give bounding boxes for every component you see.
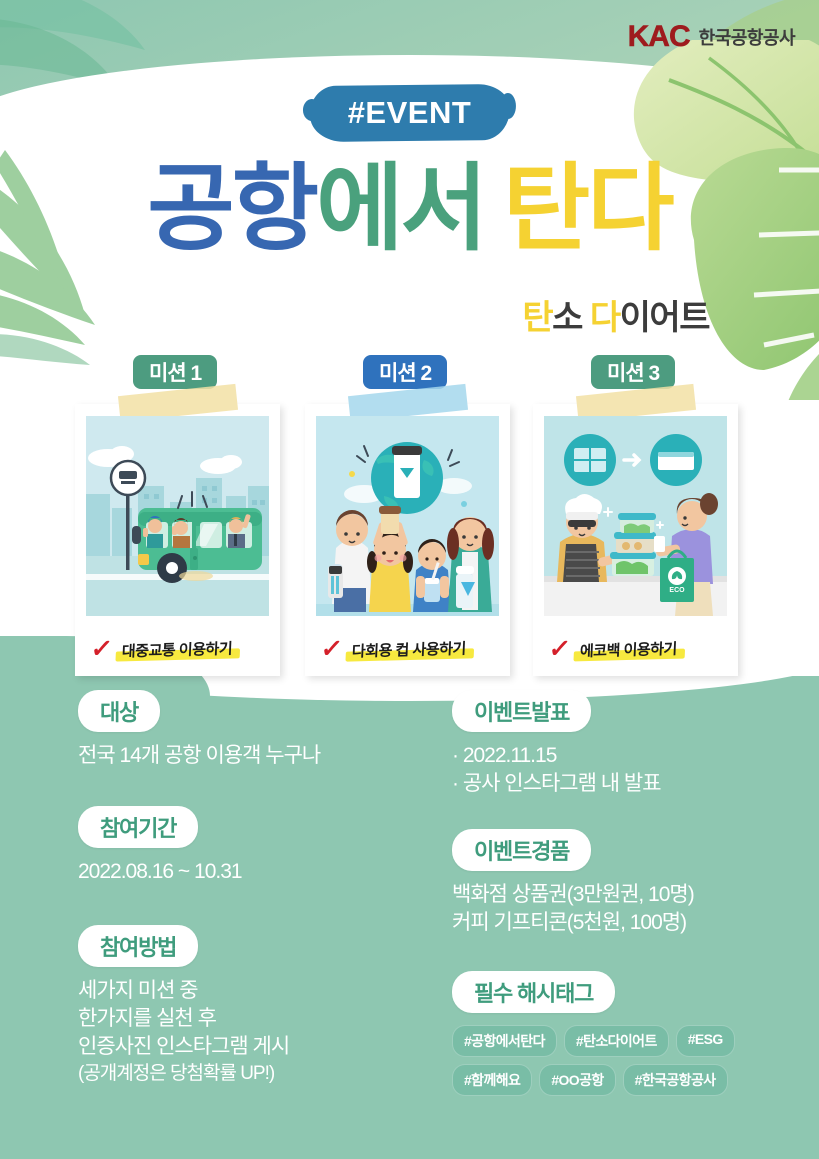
subtitle-part-iet: 이어트	[620, 299, 709, 337]
howto-line-3: 인증사진 인스타그램 게시	[78, 1033, 418, 1061]
mission-3-illustration: ECO	[544, 416, 727, 616]
info-block-howto: 참여방법 세가지 미션 중 한가지를 실천 후 인증사진 인스타그램 게시 (공…	[78, 925, 418, 1085]
mission-1-illustration	[86, 416, 269, 616]
mission-badge-3-label: 미션 3	[607, 357, 659, 387]
info-section: 대상 전국 14개 공항 이용객 누구나 참여기간 2022.08.16 ~ 1…	[0, 690, 819, 1159]
mission-cards: ✓ 대중교통 이용하기	[0, 404, 819, 676]
info-block-hashtags: 필수 해시태그 #공항에서탄다 #탄소다이어트 #ESG #함께해요 #OO공항…	[452, 971, 802, 1096]
event-badge: #EVENT	[310, 85, 510, 141]
info-text-howto: 세가지 미션 중 한가지를 실천 후 인증사진 인스타그램 게시 (공개계정은 …	[78, 977, 418, 1085]
svg-text:ECO: ECO	[669, 587, 685, 594]
hashtag-item[interactable]: #탄소다이어트	[564, 1025, 669, 1057]
info-label-announcement: 이벤트발표	[452, 690, 591, 732]
mission-2-caption: ✓ 다회용 컵 사용하기	[305, 637, 510, 662]
check-icon: ✓	[319, 637, 343, 662]
kac-logo-name: 한국공항공사	[699, 24, 795, 50]
info-label-howto: 참여방법	[78, 925, 198, 967]
check-icon: ✓	[547, 637, 571, 662]
mission-badges: 미션 1 미션 2 미션 3	[0, 355, 819, 391]
mission-card-2[interactable]: ✓ 다회용 컵 사용하기	[305, 404, 510, 676]
mission-badge-1: 미션 1	[133, 355, 217, 389]
info-block-prizes: 이벤트경품 백화점 상품권(3만원권, 10명) 커피 기프티콘(5천원, 10…	[452, 829, 802, 936]
hashtag-list: #공항에서탄다 #탄소다이어트 #ESG #함께해요 #OO공항 #한국공항공사	[452, 1025, 782, 1096]
hashtag-item[interactable]: #한국공항공사	[623, 1064, 728, 1096]
mission-3-caption: ✓ 에코백 이용하기	[533, 637, 738, 662]
info-text-prizes: 백화점 상품권(3만원권, 10명) 커피 기프티콘(5천원, 100명)	[452, 881, 802, 936]
info-block-target: 대상 전국 14개 공항 이용객 누구나	[78, 690, 418, 770]
event-badge-label: #EVENT	[348, 95, 472, 131]
mission-badge-3: 미션 3	[591, 355, 675, 389]
title-part-ride: 탄다	[503, 156, 672, 262]
announcement-line-1: · 2022.11.15	[452, 742, 802, 770]
mission-badge-1-label: 미션 1	[149, 357, 201, 387]
prize-line-2: 커피 기프티콘(5천원, 100명)	[452, 909, 802, 937]
info-text-target: 전국 14개 공항 이용객 누구나	[78, 742, 418, 770]
kac-logo-mark: KAC	[628, 20, 690, 54]
page-title: 공항에서탄다	[0, 160, 819, 260]
hashtag-item[interactable]: #ESG	[676, 1025, 735, 1057]
hashtag-item[interactable]: #OO공항	[539, 1064, 615, 1096]
mission-1-caption-text: 대중교통 이용하기	[117, 636, 236, 662]
subtitle-part-so: 소	[552, 299, 582, 337]
mission-badge-2-label: 미션 2	[379, 357, 431, 387]
info-block-announcement: 이벤트발표 · 2022.11.15 · 공사 인스타그램 내 발표	[452, 690, 802, 797]
hashtag-item[interactable]: #공항에서탄다	[452, 1025, 557, 1057]
info-label-period: 참여기간	[78, 806, 198, 848]
title-part-airport: 공항	[147, 156, 316, 262]
mission-card-1[interactable]: ✓ 대중교통 이용하기	[75, 404, 280, 676]
announcement-line-2: · 공사 인스타그램 내 발표	[452, 770, 802, 798]
info-label-hashtags: 필수 해시태그	[452, 971, 615, 1013]
mission-2-illustration	[316, 416, 499, 616]
title-part-at: 에서	[316, 156, 485, 262]
mission-2-caption-text: 다회용 컵 사용하기	[347, 636, 470, 662]
mission-1-caption: ✓ 대중교통 이용하기	[75, 637, 280, 662]
prize-line-1: 백화점 상품권(3만원권, 10명)	[452, 881, 802, 909]
mission-card-3[interactable]: ECO ✓ 에코백 이용하기	[533, 404, 738, 676]
info-label-prizes: 이벤트경품	[452, 829, 591, 871]
page-subtitle: 탄소 다이어트	[522, 290, 709, 339]
hashtag-item[interactable]: #함께해요	[452, 1064, 532, 1096]
check-icon: ✓	[89, 637, 113, 662]
subtitle-part-da: 다	[590, 299, 620, 337]
info-text-period: 2022.08.16 ~ 10.31	[78, 858, 418, 886]
info-right-column: 이벤트발표 · 2022.11.15 · 공사 인스타그램 내 발표 이벤트경품…	[452, 690, 802, 1122]
mission-badge-2: 미션 2	[363, 355, 447, 389]
info-left-column: 대상 전국 14개 공항 이용객 누구나 참여기간 2022.08.16 ~ 1…	[78, 690, 418, 1112]
howto-line-4: (공개계정은 당첨확률 UP!)	[78, 1061, 418, 1086]
info-label-target: 대상	[78, 690, 160, 732]
info-text-announcement: · 2022.11.15 · 공사 인스타그램 내 발표	[452, 742, 802, 797]
mission-3-caption-text: 에코백 이용하기	[575, 637, 681, 663]
info-block-period: 참여기간 2022.08.16 ~ 10.31	[78, 806, 418, 886]
subtitle-part-tan: 탄	[522, 299, 552, 337]
howto-line-2: 한가지를 실천 후	[78, 1005, 418, 1033]
event-poster: KAC 한국공항공사 #EVENT 공항에서탄다 탄소 다이어트 미션 1 미션…	[0, 0, 819, 1159]
howto-line-1: 세가지 미션 중	[78, 977, 418, 1005]
kac-logo: KAC 한국공항공사	[628, 20, 795, 54]
